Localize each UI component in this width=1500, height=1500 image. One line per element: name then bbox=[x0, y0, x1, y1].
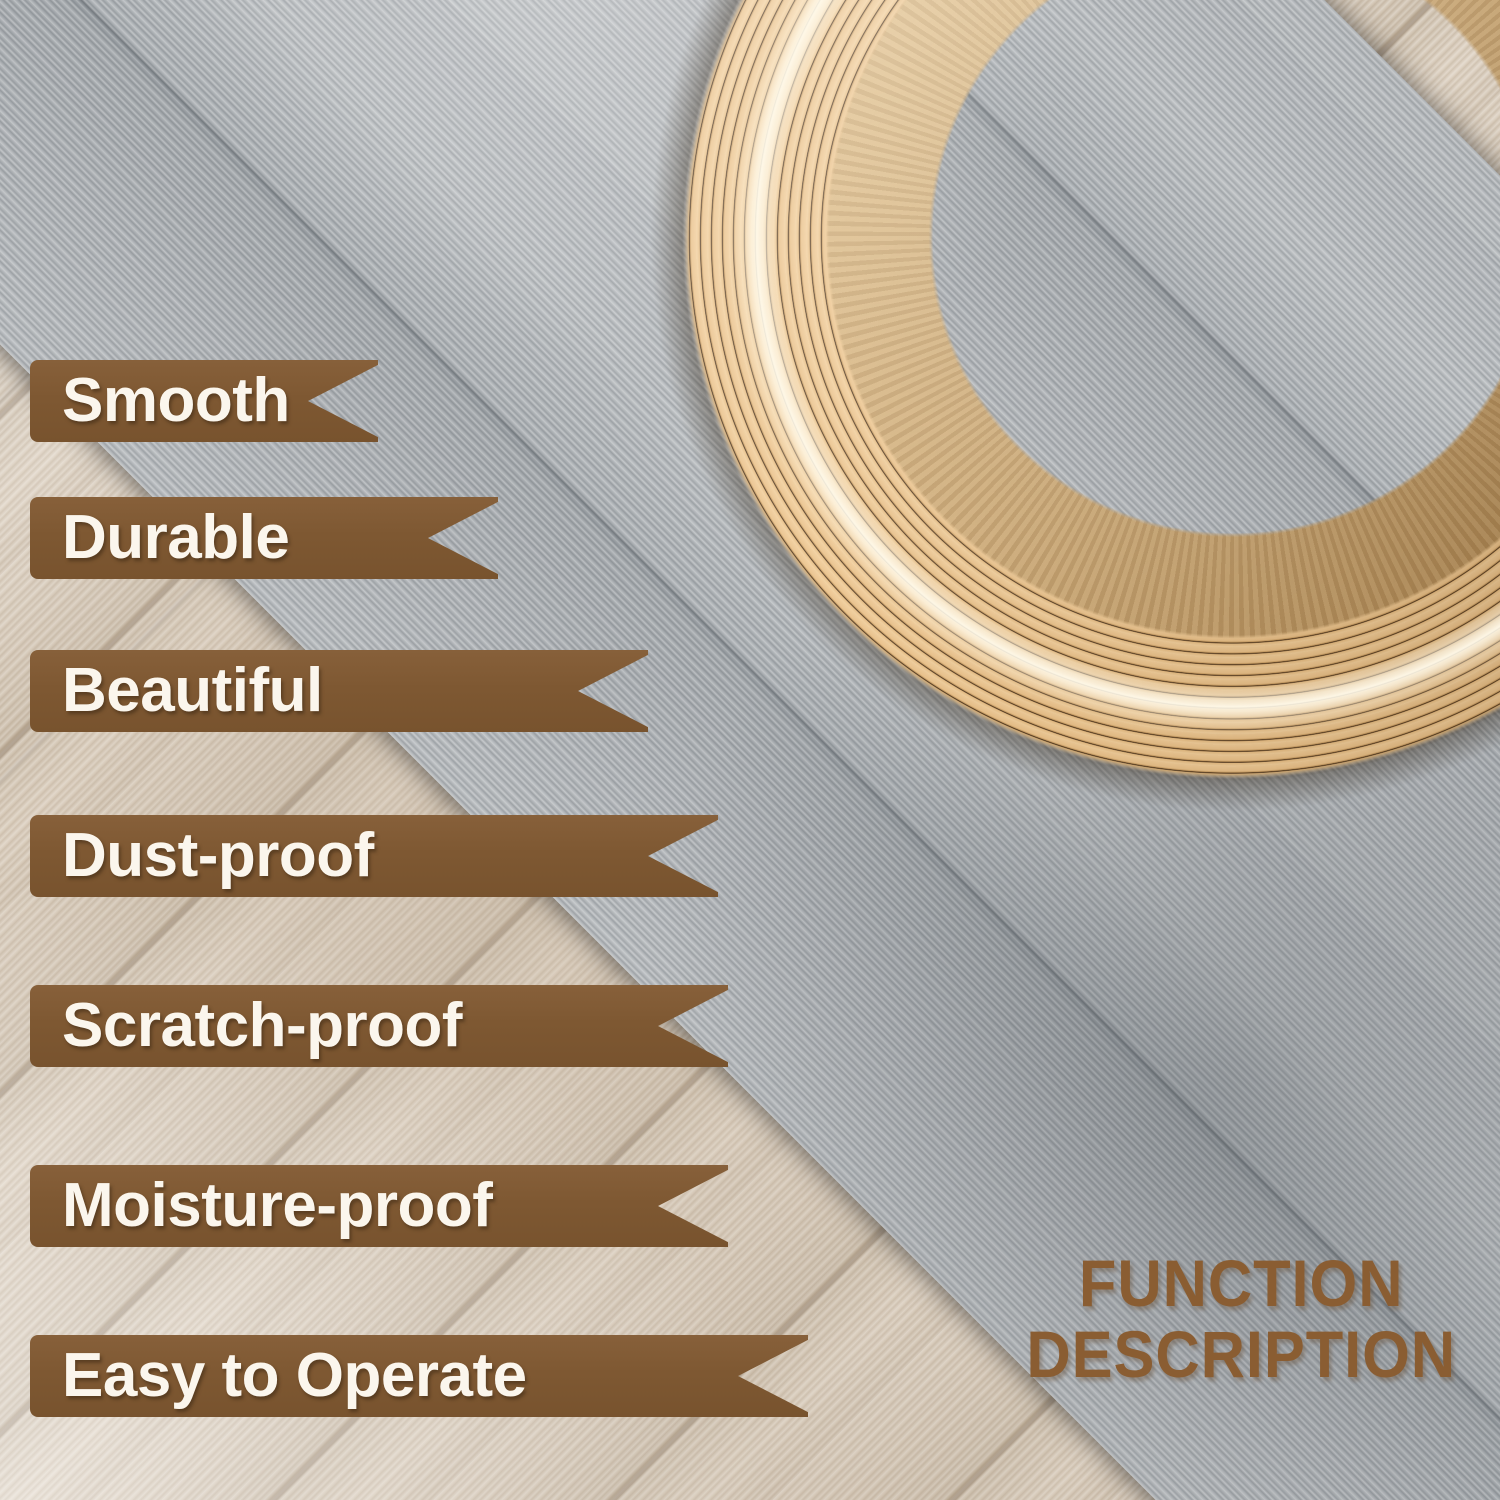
feature-label: Durable bbox=[62, 507, 289, 569]
feature-label: Dust-proof bbox=[62, 825, 374, 887]
feature-banner-beautiful: Beautiful bbox=[30, 650, 650, 732]
feature-label: Beautiful bbox=[62, 660, 323, 722]
product-feature-image: Smooth Durable Beautiful Dust-proof Scra… bbox=[0, 0, 1500, 1500]
feature-label: Smooth bbox=[62, 370, 290, 432]
feature-banner-dust-proof: Dust-proof bbox=[30, 815, 720, 897]
title-line-2: DESCRIPTION bbox=[1026, 1319, 1456, 1390]
feature-banner-moisture-proof: Moisture-proof bbox=[30, 1165, 730, 1247]
feature-label: Scratch-proof bbox=[62, 995, 462, 1057]
feature-banner-easy-to-operate: Easy to Operate bbox=[30, 1335, 810, 1417]
feature-label: Moisture-proof bbox=[62, 1175, 492, 1237]
feature-banner-scratch-proof: Scratch-proof bbox=[30, 985, 730, 1067]
title-line-1: FUNCTION bbox=[1026, 1248, 1456, 1319]
feature-label: Easy to Operate bbox=[62, 1345, 527, 1407]
function-description-title: FUNCTION DESCRIPTION bbox=[1026, 1248, 1456, 1391]
